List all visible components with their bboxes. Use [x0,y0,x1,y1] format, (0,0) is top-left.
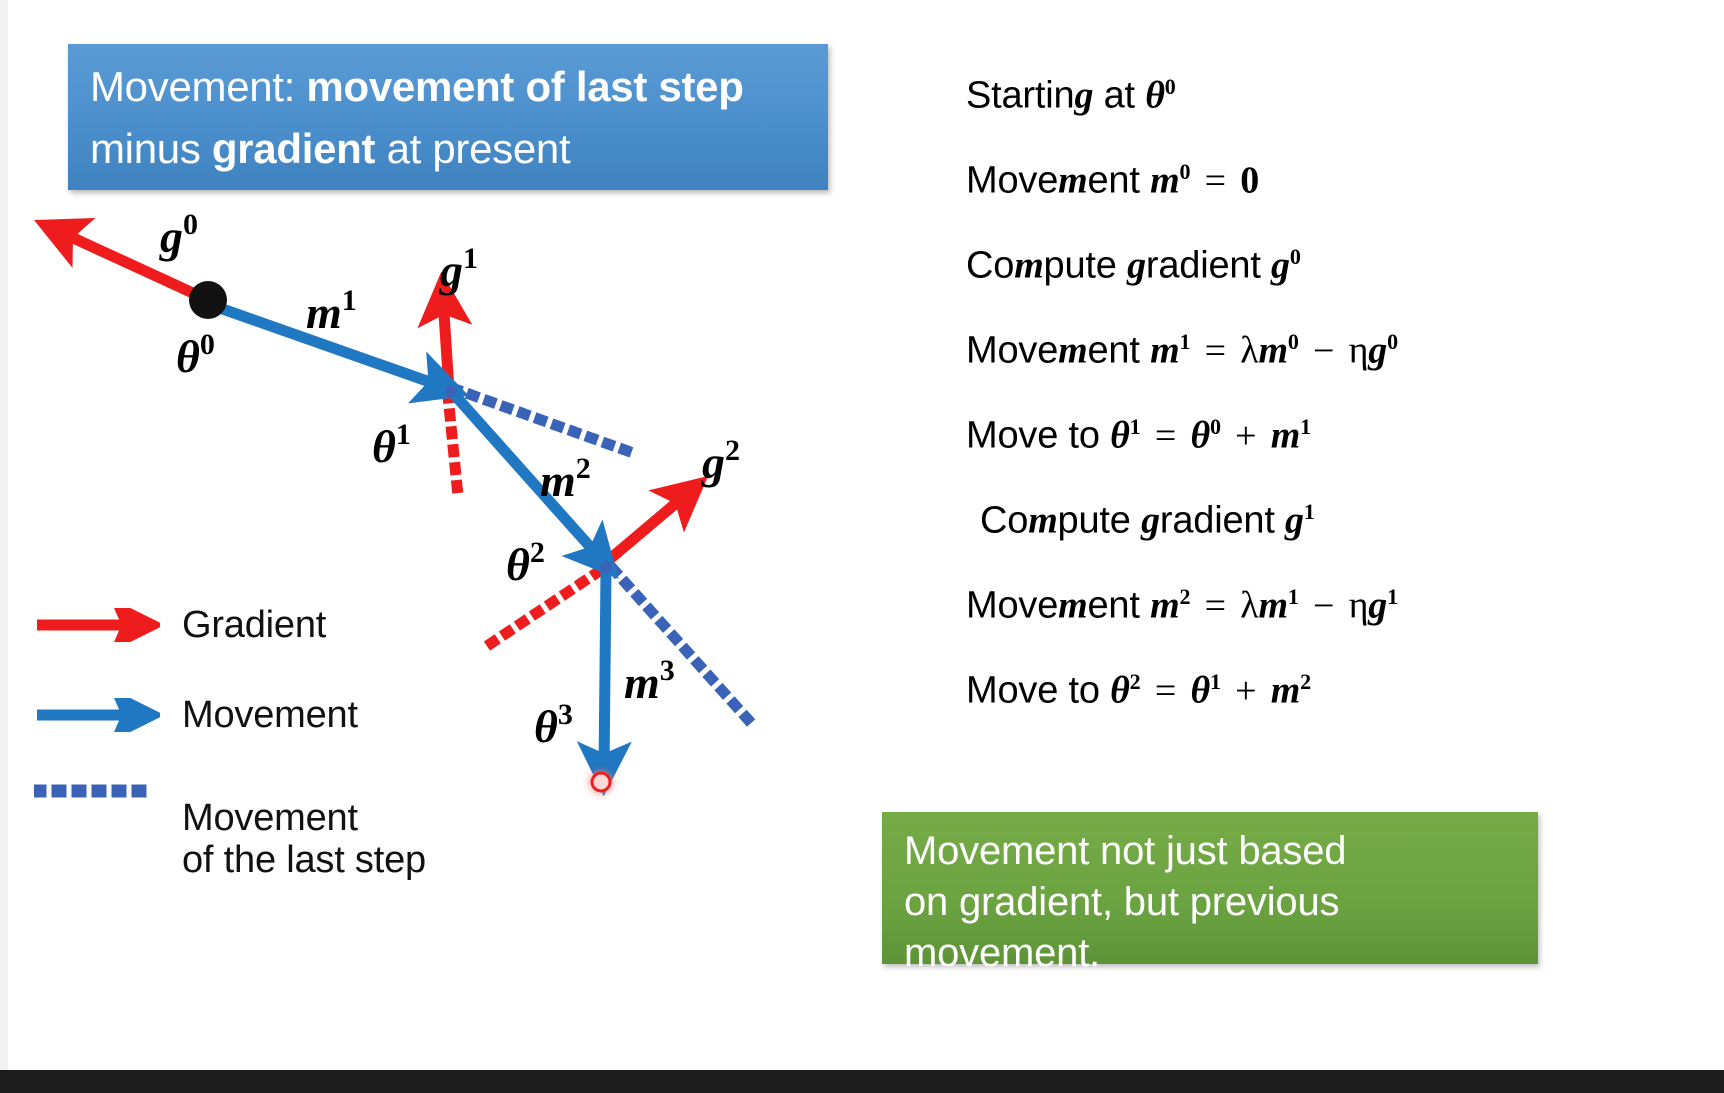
algorithm-steps-list: Starting at θ0 Movement m0 = 0 Compute g… [966,44,1666,724]
step-compute-gradient-g1: Compute gradient g1 [966,469,1666,554]
blue-banner-bold-1: movement of last step [306,63,743,110]
gradient-arrow-g2 [604,493,688,564]
legend-item-movement: Movement [34,670,426,760]
green-banner-line-3: movement. [904,928,1520,979]
legend-label-movement-last-step: Movement of the last step [182,754,426,882]
label-theta0: θ0 [176,328,215,382]
dotted-movement-icon [34,774,160,808]
gradient-arrows [58,231,688,564]
node-theta0 [189,281,227,319]
step-move-to-theta1: Move to θ1 = θ0 + m1 [966,384,1666,469]
step-movement-m1: Movement m1 = λm0 − ηg0 [966,299,1666,384]
slide-canvas: Movement: movement of last step minus gr… [0,0,1724,1093]
dotted-g1-reverse [448,396,458,496]
label-m2: m2 [540,452,591,506]
legend-item-gradient: Gradient [34,580,426,670]
blue-banner-text-2: minus [90,125,212,172]
bottom-black-strip [0,1070,1724,1093]
legend-item-movement-last-step: Movement of the last step [34,760,426,910]
movement-arrow-icon [34,698,160,732]
gradient-arrow-icon [34,608,160,642]
legend-label-gradient: Gradient [182,604,326,647]
label-m1: m1 [306,284,357,338]
legend-label-movement: Movement [182,694,358,737]
step-movement-m0: Movement m0 = 0 [966,129,1666,214]
step-compute-gradient-g0: Compute gradient g0 [966,214,1666,299]
diagram-legend: Gradient Movement [34,580,426,910]
label-m3: m3 [624,654,675,708]
step-starting-at-theta0: Starting at θ0 [966,44,1666,129]
label-theta1: θ1 [372,418,411,472]
step-movement-m2: Movement m2 = λm1 − ηg1 [966,554,1666,639]
green-banner-line-2: on gradient, but previous [904,877,1520,928]
gradient-arrow-g1 [443,298,449,390]
node-theta3 [592,773,610,791]
node-theta2 [600,561,612,573]
blue-banner-text-3: at present [375,125,570,172]
blue-banner-text-1: Movement: [90,63,306,110]
step-move-to-theta2: Move to θ2 = θ1 + m2 [966,639,1666,724]
movement-arrow-m3 [604,570,606,770]
node-theta1 [445,385,457,397]
label-g2: g2 [701,434,740,488]
legend-last-step-text: Movement of the last step [182,797,426,882]
label-theta2: θ2 [506,536,545,590]
label-g1: g1 [439,242,478,296]
label-g0: g0 [159,208,198,262]
label-theta3: θ3 [534,698,573,752]
gradient-arrow-g0 [58,231,208,300]
green-banner-line-1: Movement not just based [904,826,1520,877]
blue-banner-bold-2: gradient [212,125,375,172]
blue-callout-banner: Movement: movement of last step minus gr… [68,44,828,190]
green-callout-banner: Movement not just based on gradient, but… [882,812,1538,964]
